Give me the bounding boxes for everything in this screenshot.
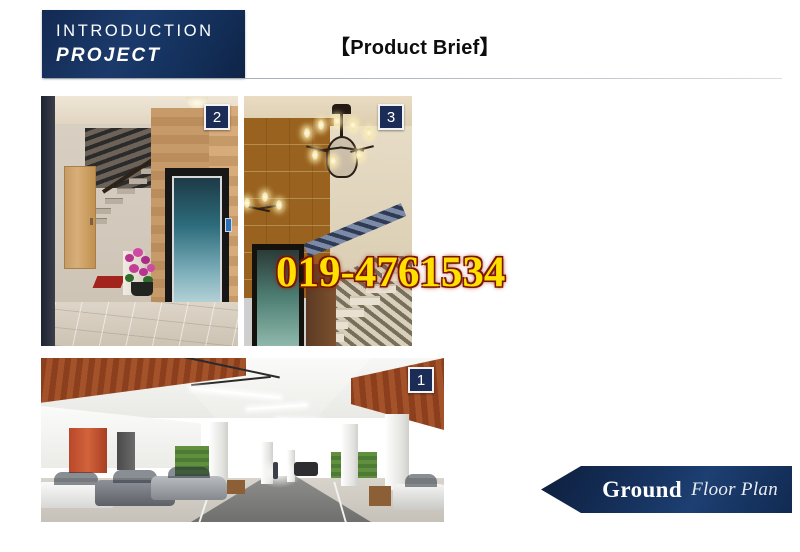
red-timber-door xyxy=(69,428,107,473)
banner-line-project: PROJECT xyxy=(56,44,245,69)
photo-badge-1: 1 xyxy=(408,367,434,393)
ground-floor-plan-banner: Ground Floor Plan xyxy=(541,466,792,513)
floor-tile-joints xyxy=(55,302,238,346)
banner-line-introduction: INTRODUCTION xyxy=(56,20,245,42)
page-title: 【Product Brief】 xyxy=(330,31,500,60)
parked-car-right xyxy=(393,484,444,510)
foreground-wall-edge xyxy=(41,96,55,346)
distant-suv xyxy=(294,462,318,476)
chandelier-icon xyxy=(304,104,378,200)
photo-car-porch: 1 xyxy=(41,358,444,522)
photo-badge-3: 3 xyxy=(378,104,404,130)
grey-door xyxy=(117,432,135,470)
introduction-project-banner: INTRODUCTION PROJECT xyxy=(42,10,245,78)
porch-column-4 xyxy=(341,424,358,486)
slide-canvas: INTRODUCTION PROJECT 【Product Brief】 xyxy=(0,0,800,552)
person-figure xyxy=(273,462,278,479)
phone-number-overlay: 019-4761534 xyxy=(276,248,505,297)
red-floor-mat xyxy=(93,276,126,288)
banner-label-ground: Ground xyxy=(602,477,682,503)
photo-stair-hall: 3 xyxy=(244,96,412,346)
lift-call-button xyxy=(225,218,232,232)
photo-badge-2: 2 xyxy=(204,104,230,130)
photo-lift-lobby: 2 xyxy=(41,96,238,346)
planter-box-left xyxy=(227,480,245,494)
ground-floor-plan: ±28'-3" ±33'-0" xyxy=(548,96,786,396)
header-divider-line xyxy=(44,78,782,79)
flower-pot xyxy=(131,282,153,296)
planter-box-right xyxy=(369,486,391,506)
banner-label-floor-plan: Floor Plan xyxy=(691,479,778,501)
parked-car-grey xyxy=(151,476,227,500)
wall-sconce-icon xyxy=(244,192,286,236)
door-handle xyxy=(90,218,93,225)
lift-door xyxy=(172,176,222,316)
